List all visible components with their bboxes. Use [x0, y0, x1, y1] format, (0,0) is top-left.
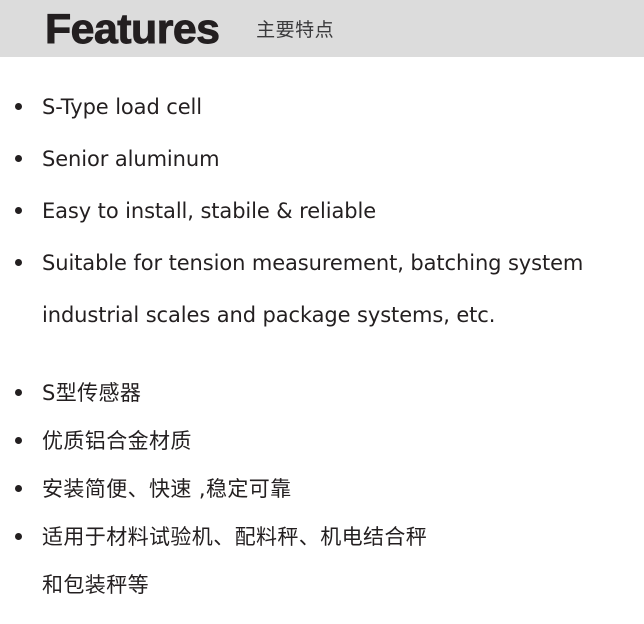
list-item: S-Type load cell	[0, 81, 644, 133]
list-item-line: Easy to install, stabile & reliable	[42, 185, 644, 237]
list-item: 安装简便、快速 ,稳定可靠	[0, 465, 644, 513]
list-item: 适用于材料试验机、配料秤、机电结合秤 和包装秤等	[0, 513, 644, 609]
page-title: Features	[45, 8, 219, 50]
features-content: S-Type load cell Senior aluminum Easy to…	[0, 57, 644, 609]
list-item-line-continued: industrial scales and package systems, e…	[42, 289, 644, 341]
list-item: S型传感器	[0, 369, 644, 417]
list-item-line: 适用于材料试验机、配料秤、机电结合秤	[42, 513, 644, 561]
bullet-dot-icon	[15, 207, 22, 214]
bullet-dot-icon	[15, 437, 22, 444]
bullet-dot-icon	[15, 533, 22, 540]
list-item-line: Senior aluminum	[42, 133, 644, 185]
list-item-line: 优质铝合金材质	[42, 417, 644, 465]
header-band: Features 主要特点	[0, 0, 644, 57]
list-item-line: S-Type load cell	[42, 81, 644, 133]
bullet-dot-icon	[15, 485, 22, 492]
list-item: Suitable for tension measurement, batchi…	[0, 237, 644, 341]
page-subtitle-chinese: 主要特点	[256, 17, 334, 40]
list-item-line: 安装简便、快速 ,稳定可靠	[42, 465, 644, 513]
list-item: 优质铝合金材质	[0, 417, 644, 465]
bullet-dot-icon	[15, 103, 22, 110]
bullet-dot-icon	[15, 389, 22, 396]
bullet-dot-icon	[15, 259, 22, 266]
list-item-line-continued: 和包装秤等	[42, 561, 644, 609]
features-page: Features 主要特点 S-Type load cell Senior al…	[0, 0, 644, 624]
list-item: Easy to install, stabile & reliable	[0, 185, 644, 237]
list-item-line: S型传感器	[42, 369, 644, 417]
feature-list-chinese: S型传感器 优质铝合金材质 安装简便、快速 ,稳定可靠 适用于材料试验机、配料秤…	[0, 341, 644, 609]
bullet-dot-icon	[15, 155, 22, 162]
list-item: Senior aluminum	[0, 133, 644, 185]
feature-list-english: S-Type load cell Senior aluminum Easy to…	[0, 57, 644, 341]
list-item-line: Suitable for tension measurement, batchi…	[42, 237, 644, 289]
